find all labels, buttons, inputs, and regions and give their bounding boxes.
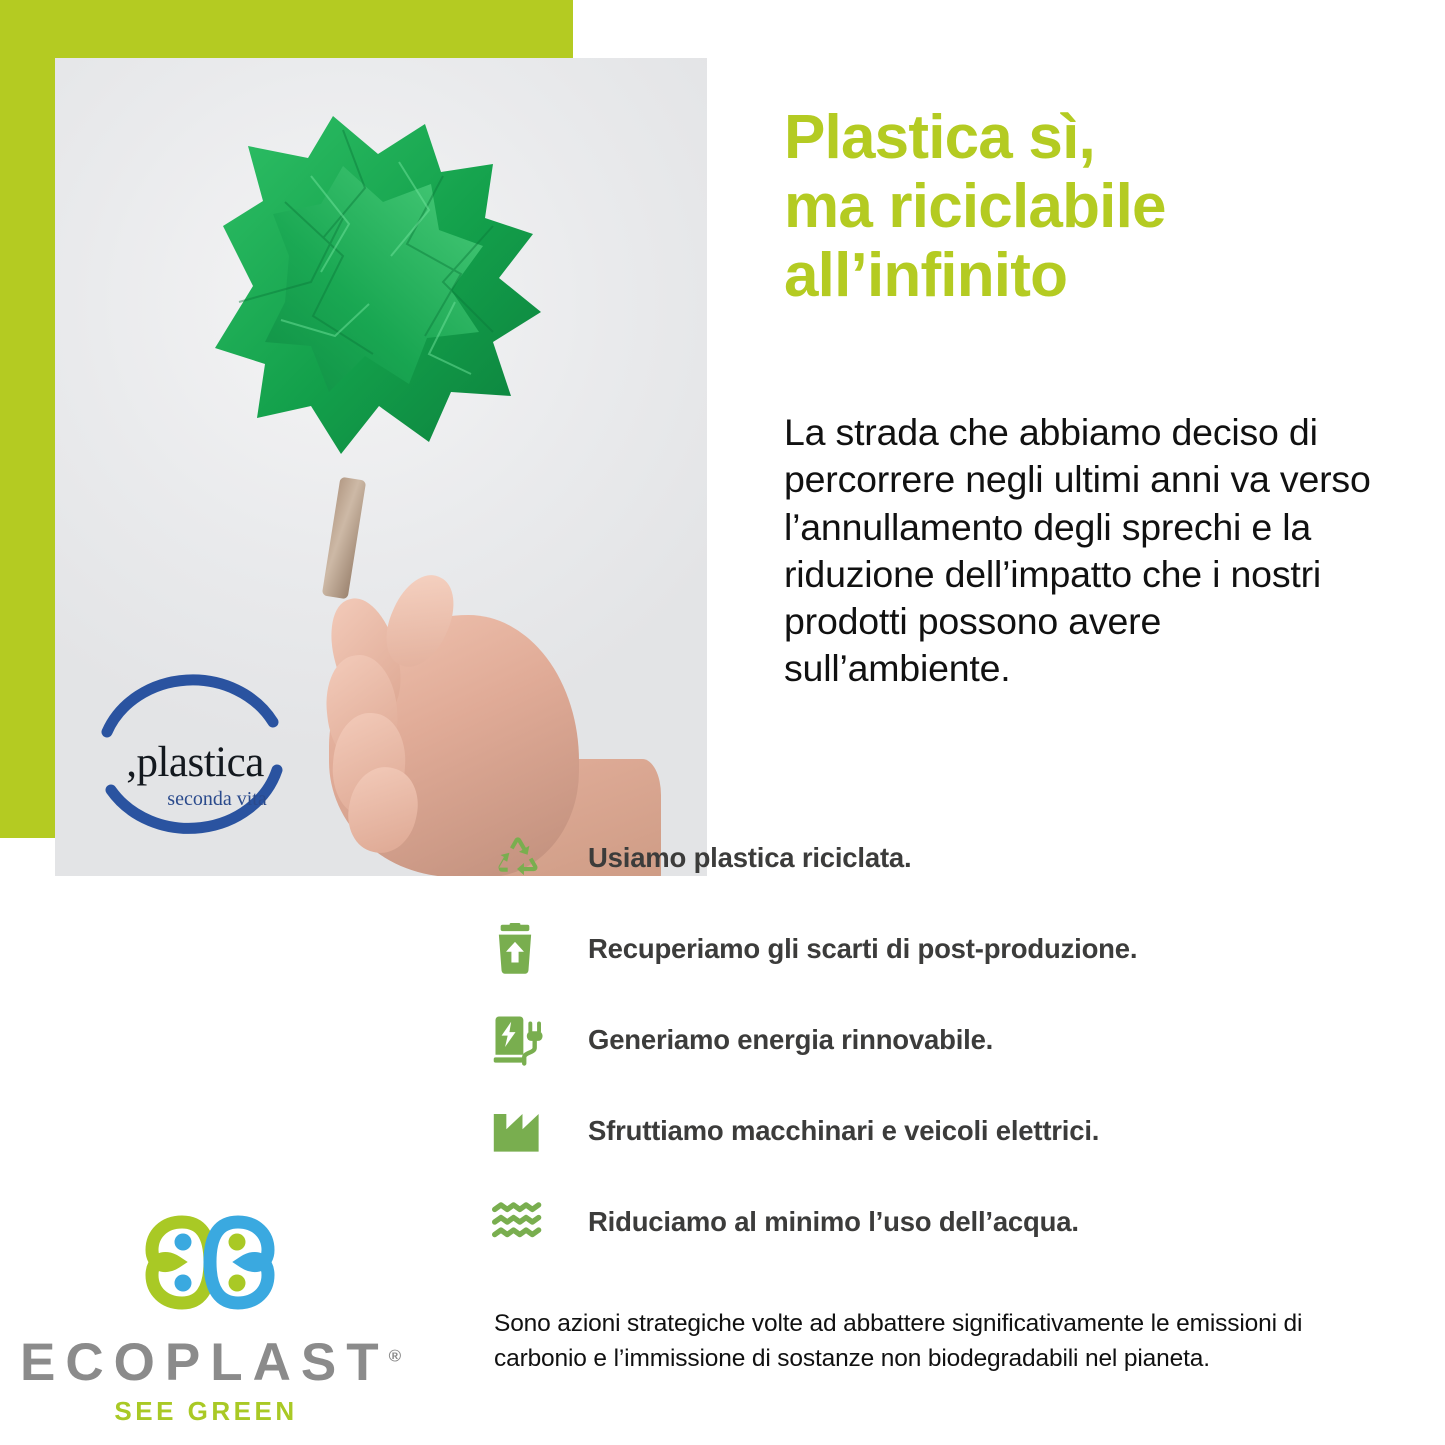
headline-line-2: ma riciclabile	[784, 173, 1424, 242]
page-title: Plastica sì, ma riciclabile all’infinito	[784, 104, 1424, 310]
recycle-icon	[492, 832, 588, 884]
headline-line-1: Plastica sì,	[784, 104, 1424, 173]
footnote-text: Sono azioni strategiche volte ad abbatte…	[494, 1307, 1394, 1377]
ecoplast-butterfly-icon	[130, 1200, 290, 1325]
plastic-tree-canopy	[193, 106, 563, 506]
list-item: Generiamo energia rinnovabile.	[492, 994, 1392, 1085]
list-item-label: Generiamo energia rinnovabile.	[588, 1024, 993, 1056]
psv-wordmark: ,plastica	[83, 738, 307, 787]
ecoplast-name: ECOPLAST	[20, 1333, 389, 1392]
registered-mark: ®	[389, 1346, 402, 1365]
hero-photo: ,plastica seconda vita	[55, 58, 707, 876]
headline-line-3: all’infinito	[784, 242, 1424, 311]
list-item: Usiamo plastica riciclata.	[492, 812, 1392, 903]
ecoplast-logo: ECOPLAST® SEE GREEN	[20, 1200, 400, 1430]
water-waves-icon	[492, 1201, 588, 1243]
list-item: Recuperiamo gli scarti di post-produzion…	[492, 903, 1392, 994]
benefits-list: Usiamo plastica riciclata. Recuperiamo g…	[492, 812, 1392, 1267]
factory-icon	[492, 1108, 588, 1154]
psv-subtitle: seconda vita	[117, 788, 317, 811]
list-item-label: Sfruttiamo macchinari e veicoli elettric…	[588, 1115, 1099, 1147]
list-item-label: Riduciamo al minimo l’uso dell’acqua.	[588, 1206, 1079, 1238]
plastica-seconda-vita-logo: ,plastica seconda vita	[77, 660, 307, 870]
ev-charging-icon	[492, 1014, 588, 1066]
poster-canvas: ,plastica seconda vita Plastica sì, ma r…	[0, 0, 1445, 1445]
lead-paragraph: La strada che abbiamo deciso di percorre…	[784, 409, 1394, 693]
list-item-label: Usiamo plastica riciclata.	[588, 842, 911, 874]
list-item: Riduciamo al minimo l’uso dell’acqua.	[492, 1176, 1392, 1267]
ecoplast-tagline: SEE GREEN	[20, 1396, 392, 1427]
canopy-svg	[193, 106, 563, 506]
list-item: Sfruttiamo macchinari e veicoli elettric…	[492, 1085, 1392, 1176]
list-item-label: Recuperiamo gli scarti di post-produzion…	[588, 933, 1137, 965]
trash-recovery-icon	[492, 923, 588, 975]
ecoplast-wordmark: ECOPLAST®	[20, 1332, 400, 1393]
